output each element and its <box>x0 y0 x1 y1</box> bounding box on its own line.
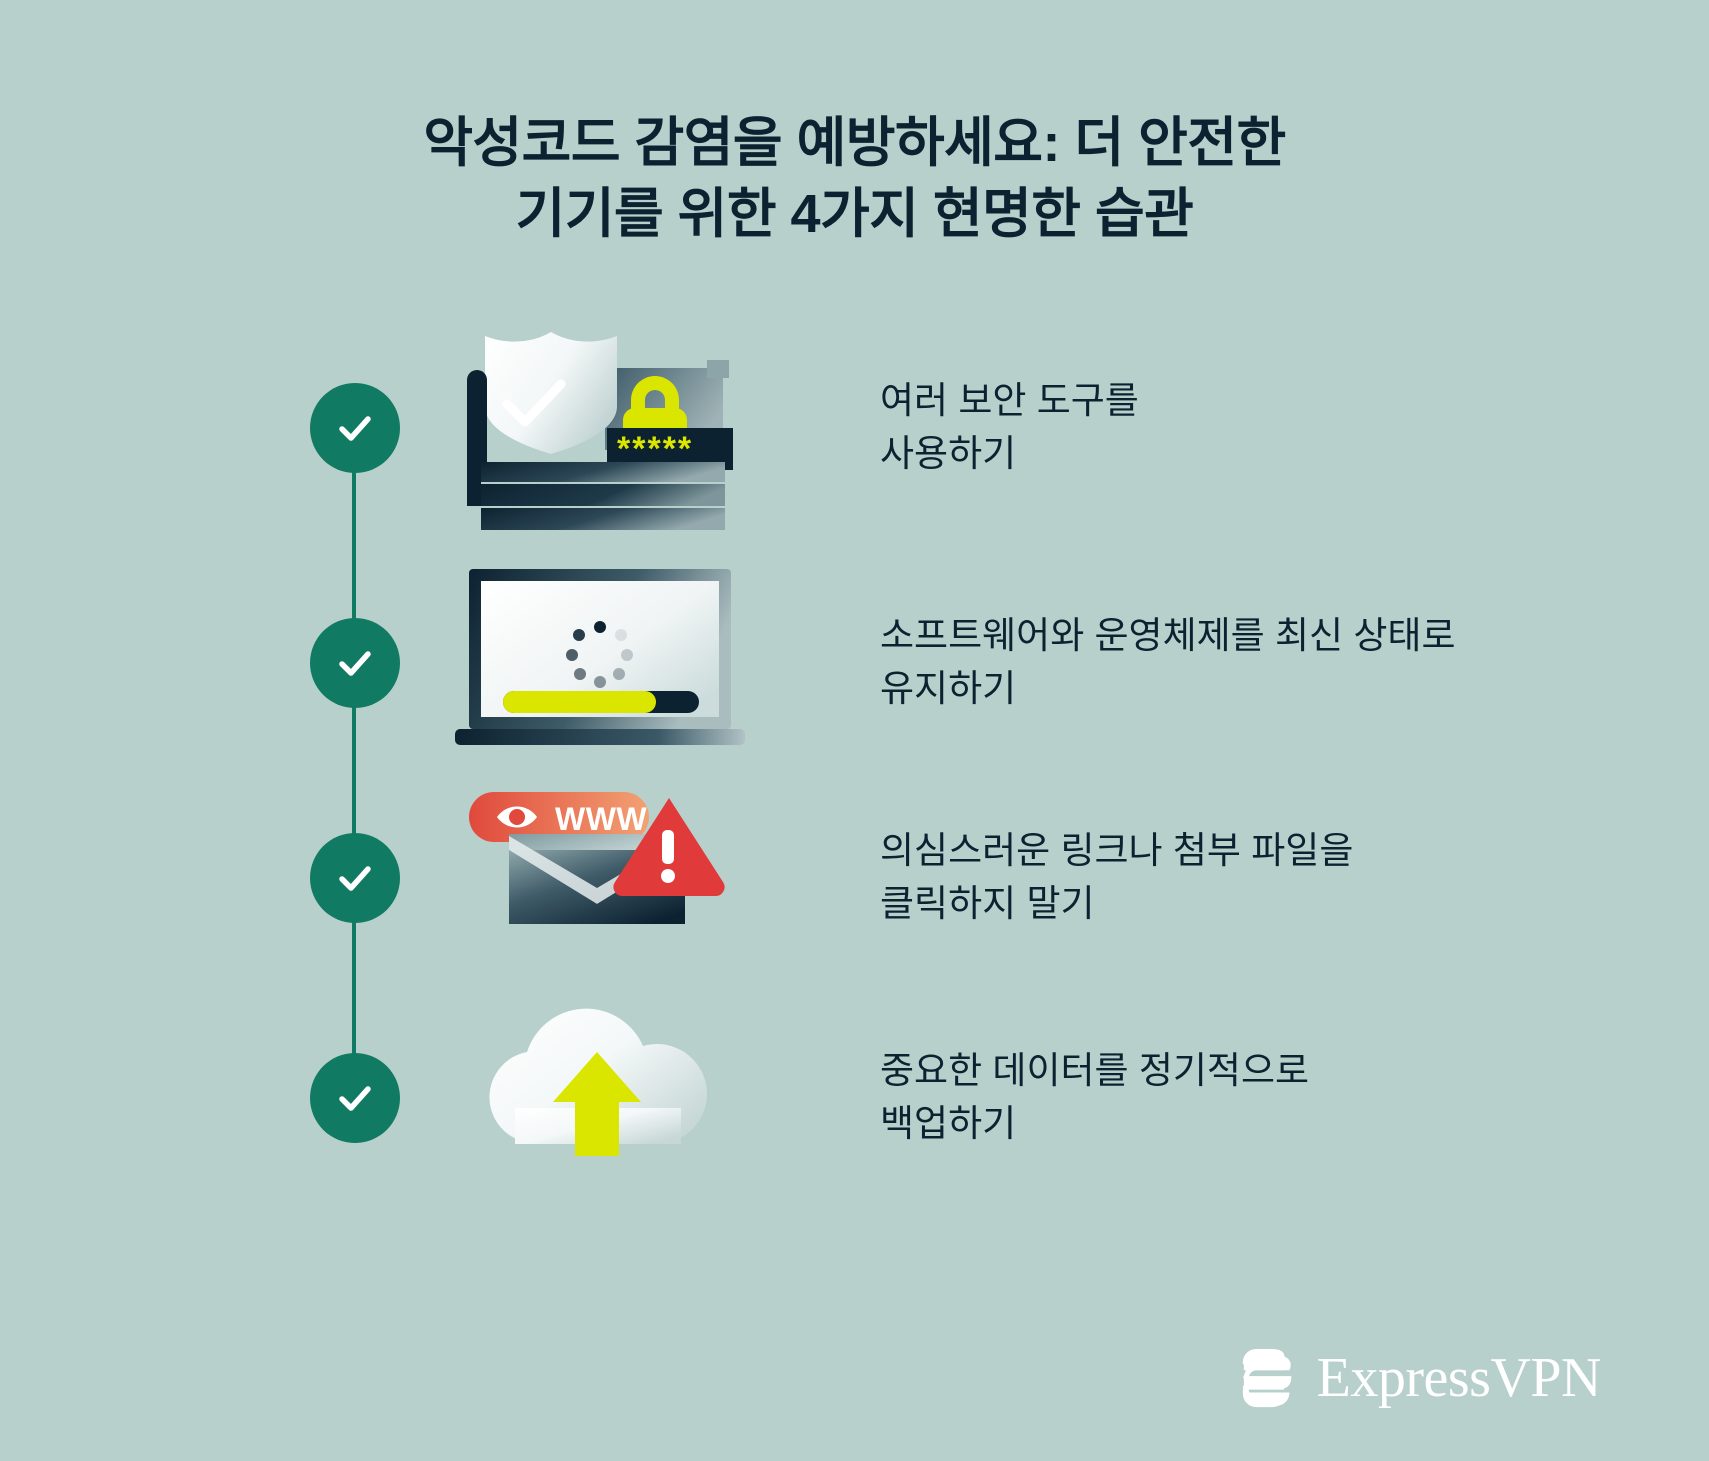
shield-check-icon <box>485 332 617 454</box>
check-circle-1 <box>310 383 400 473</box>
item-text-1-line-1: 여러 보안 도구를 <box>880 375 1640 428</box>
timeline-step-1 <box>310 383 400 473</box>
check-circle-3 <box>310 833 400 923</box>
list-item: ***** 여러 보안 도구를 사용하기 <box>0 320 1709 535</box>
expressvpn-logo: ExpressVPN <box>1239 1347 1601 1409</box>
list-item: WWW 의심스러운 링크나 첨부 파일을 클릭하지 말기 <box>0 770 1709 985</box>
page-title-line-2: 기기를 위한 4가지 현명한 습관 <box>0 179 1709 250</box>
check-icon <box>331 854 379 902</box>
item-text-2-line-1: 소프트웨어와 운영체제를 최신 상태로 <box>880 610 1640 663</box>
page-title: 악성코드 감염을 예방하세요: 더 안전한 기기를 위한 4가지 현명한 습관 <box>0 108 1709 251</box>
item-text-2: 소프트웨어와 운영체제를 최신 상태로 유지하기 <box>880 610 1640 715</box>
item-text-3-line-2: 클릭하지 말기 <box>880 878 1640 931</box>
check-icon <box>331 1074 379 1122</box>
timeline-step-4 <box>310 1053 400 1143</box>
check-circle-4 <box>310 1053 400 1143</box>
page-title-line-1: 악성코드 감염을 예방하세요: 더 안전한 <box>0 108 1709 179</box>
item-text-4-line-1: 중요한 데이터를 정기적으로 <box>880 1045 1640 1098</box>
check-circle-2 <box>310 618 400 708</box>
url-pill-label: WWW <box>555 801 647 837</box>
check-icon <box>331 639 379 687</box>
expressvpn-wordmark: ExpressVPN <box>1317 1350 1601 1406</box>
toolbox-security-illustration: ***** <box>455 320 745 535</box>
item-text-1-line-2: 사용하기 <box>880 428 1640 481</box>
toolbox-body <box>481 462 725 530</box>
cloud-backup-illustration <box>455 990 745 1205</box>
laptop-base <box>455 729 745 745</box>
item-text-3-line-1: 의심스러운 링크나 첨부 파일을 <box>880 825 1640 878</box>
item-text-3: 의심스러운 링크나 첨부 파일을 클릭하지 말기 <box>880 825 1640 930</box>
list-item: 중요한 데이터를 정기적으로 백업하기 <box>0 990 1709 1205</box>
cloud-backup-icon <box>455 990 745 1205</box>
item-text-2-line-2: 유지하기 <box>880 663 1640 716</box>
toolbox-security-icon: ***** <box>455 320 745 535</box>
item-text-4-line-2: 백업하기 <box>880 1098 1640 1151</box>
timeline-step-2 <box>310 618 400 708</box>
item-text-4: 중요한 데이터를 정기적으로 백업하기 <box>880 1045 1640 1150</box>
item-text-1: 여러 보안 도구를 사용하기 <box>880 375 1640 480</box>
timeline-step-3 <box>310 833 400 923</box>
suspicious-email-illustration: WWW <box>455 770 745 985</box>
progress-bar <box>503 691 699 713</box>
expressvpn-e-mark <box>1239 1347 1301 1409</box>
laptop-update-illustration <box>455 555 745 770</box>
laptop-update-icon <box>455 555 745 770</box>
check-icon <box>331 404 379 452</box>
suspicious-email-icon: WWW <box>455 770 745 985</box>
infographic-body: ***** 여러 보안 도구를 사용하기 <box>0 300 1709 1200</box>
list-item: 소프트웨어와 운영체제를 최신 상태로 유지하기 <box>0 555 1709 770</box>
